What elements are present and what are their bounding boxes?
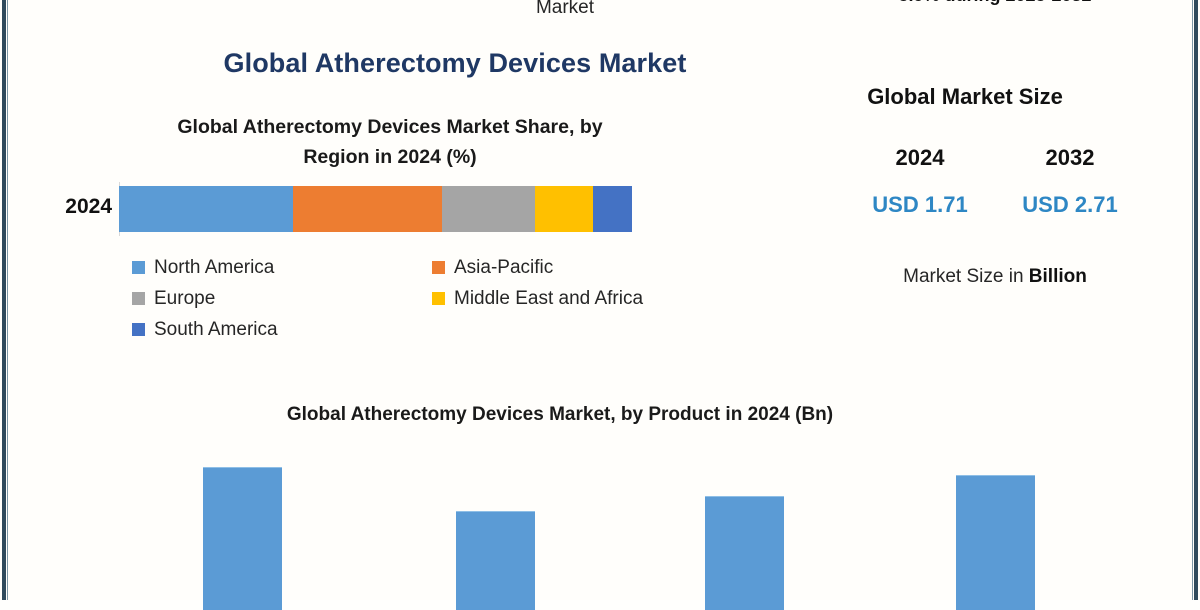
frame-border-right-inner [1192, 0, 1193, 600]
market-size-value-2024: USD 1.71 [845, 192, 995, 218]
region-chart-legend: North AmericaAsia-PacificEuropeMiddle Ea… [132, 252, 692, 345]
market-size-units-emphasis: Billion [1029, 266, 1087, 287]
region-stack-segment [593, 186, 631, 232]
region-stack-segment [119, 186, 293, 232]
infographic-page: Market 5.9% during 2025-2032 Global Athe… [0, 0, 1200, 600]
market-size-value-2032: USD 2.71 [995, 192, 1145, 218]
legend-item-label: North America [154, 257, 274, 279]
legend-item: South America [132, 319, 432, 341]
region-stack [119, 186, 632, 232]
legend-swatch-icon [132, 292, 145, 305]
region-chart-title-line1: Global Atherectomy Devices Market Share,… [100, 112, 680, 142]
product-bar [203, 467, 282, 610]
product-chart-title: Global Atherectomy Devices Market, by Pr… [150, 404, 970, 426]
region-stack-segment [535, 186, 594, 232]
legend-item-label: Europe [154, 288, 215, 310]
frame-border-left [2, 0, 6, 600]
market-size-units-prefix: Market Size in [903, 266, 1029, 287]
region-chart-title: Global Atherectomy Devices Market Share,… [100, 112, 680, 172]
region-stack-segment [442, 186, 534, 232]
legend-item: North America [132, 257, 432, 279]
legend-item-label: South America [154, 319, 278, 341]
region-stack-segment [293, 186, 442, 232]
product-bar [705, 496, 784, 610]
page-title: Global Atherectomy Devices Market [150, 48, 760, 79]
legend-swatch-icon [132, 261, 145, 274]
legend-swatch-icon [432, 292, 445, 305]
product-bar [456, 511, 535, 610]
legend-swatch-icon [432, 261, 445, 274]
frame-border-right [1194, 0, 1198, 600]
legend-item-label: Asia-Pacific [454, 257, 553, 279]
market-size-years-row: 2024 2032 [845, 145, 1145, 171]
region-chart-title-line2: Region in 2024 (%) [100, 142, 680, 172]
product-bar [956, 475, 1035, 610]
market-size-year-2024: 2024 [845, 145, 995, 171]
market-size-values-row: USD 1.71 USD 2.71 [845, 192, 1145, 218]
legend-item: Middle East and Africa [432, 288, 692, 310]
legend-item: Asia-Pacific [432, 257, 692, 279]
region-chart-category-label: 2024 [40, 195, 112, 219]
market-size-units-note: Market Size in Billion [830, 266, 1160, 288]
market-size-year-2032: 2032 [995, 145, 1145, 171]
product-bar-chart [120, 446, 1110, 604]
legend-swatch-icon [132, 323, 145, 336]
legend-item: Europe [132, 288, 432, 310]
region-stacked-bar-chart: 2024 [40, 180, 680, 238]
market-size-title: Global Market Size [800, 84, 1130, 110]
frame-border-left-inner [7, 0, 8, 600]
legend-item-label: Middle East and Africa [454, 288, 643, 310]
clipped-header-right: 5.9% during 2025-2032 [845, 0, 1145, 6]
